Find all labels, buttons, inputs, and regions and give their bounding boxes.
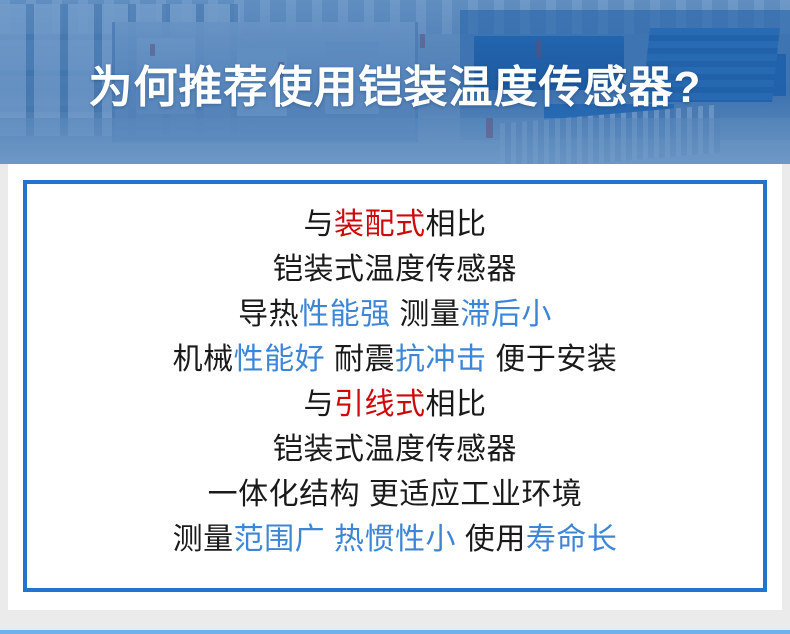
text-segment: 测量 — [391, 298, 461, 331]
text-segment: 相比 — [426, 388, 487, 421]
text-segment: 范围广 — [234, 523, 326, 556]
text-segment: 使用 — [456, 523, 526, 556]
text-segment: 测量 — [173, 523, 234, 556]
text-segment: 热惯性小 — [334, 523, 456, 556]
text-segment: 性能强 — [299, 298, 391, 331]
hero-banner: 为何推荐使用铠装温度传感器? — [0, 0, 790, 164]
text-segment: 相比 — [426, 208, 487, 241]
product-detail-page: 为何推荐使用铠装温度传感器? 与装配式相比铠装式温度传感器导热性能强 测量滞后小… — [0, 0, 790, 634]
text-segment: 与 — [304, 208, 335, 241]
text-segment: 引线式 — [334, 388, 426, 421]
bottom-gray-band — [0, 610, 790, 630]
text-segment: 与 — [304, 388, 335, 421]
feature-line-mechanical-performance: 机械性能好 耐震抗冲击 便于安装 — [27, 337, 763, 382]
text-segment: 铠装式温度传感器 — [273, 253, 517, 286]
feature-text-block: 与装配式相比铠装式温度传感器导热性能强 测量滞后小机械性能好 耐震抗冲击 便于安… — [27, 202, 763, 562]
text-segment: 抗冲击 — [395, 343, 487, 376]
content-card: 与装配式相比铠装式温度传感器导热性能强 测量滞后小机械性能好 耐震抗冲击 便于安… — [8, 164, 782, 610]
text-segment: 性能好 — [234, 343, 326, 376]
text-segment: 便于安装 — [487, 343, 618, 376]
feature-line-armored-sensor-1: 铠装式温度传感器 — [27, 247, 763, 292]
bottom-blue-strip — [0, 630, 790, 634]
text-segment: 导热 — [238, 298, 299, 331]
text-segment: 一体化结构 更适应工业环境 — [208, 478, 583, 511]
blue-frame-border: 与装配式相比铠装式温度传感器导热性能强 测量滞后小机械性能好 耐震抗冲击 便于安… — [23, 180, 767, 592]
text-segment — [325, 523, 334, 556]
feature-line-measurement-range: 测量范围广 热惯性小 使用寿命长 — [27, 517, 763, 562]
text-segment: 铠装式温度传感器 — [273, 433, 517, 466]
feature-line-compare-assembled: 与装配式相比 — [27, 202, 763, 247]
feature-line-armored-sensor-2: 铠装式温度传感器 — [27, 427, 763, 472]
feature-line-integrated-structure: 一体化结构 更适应工业环境 — [27, 472, 763, 517]
text-segment: 耐震 — [325, 343, 395, 376]
text-segment: 寿命长 — [526, 523, 618, 556]
page-title: 为何推荐使用铠装温度传感器? — [0, 66, 790, 110]
feature-line-compare-lead-wire: 与引线式相比 — [27, 382, 763, 427]
feature-line-thermal-conduction: 导热性能强 测量滞后小 — [27, 292, 763, 337]
text-segment: 机械 — [173, 343, 234, 376]
text-segment: 滞后小 — [460, 298, 552, 331]
text-segment: 装配式 — [334, 208, 426, 241]
